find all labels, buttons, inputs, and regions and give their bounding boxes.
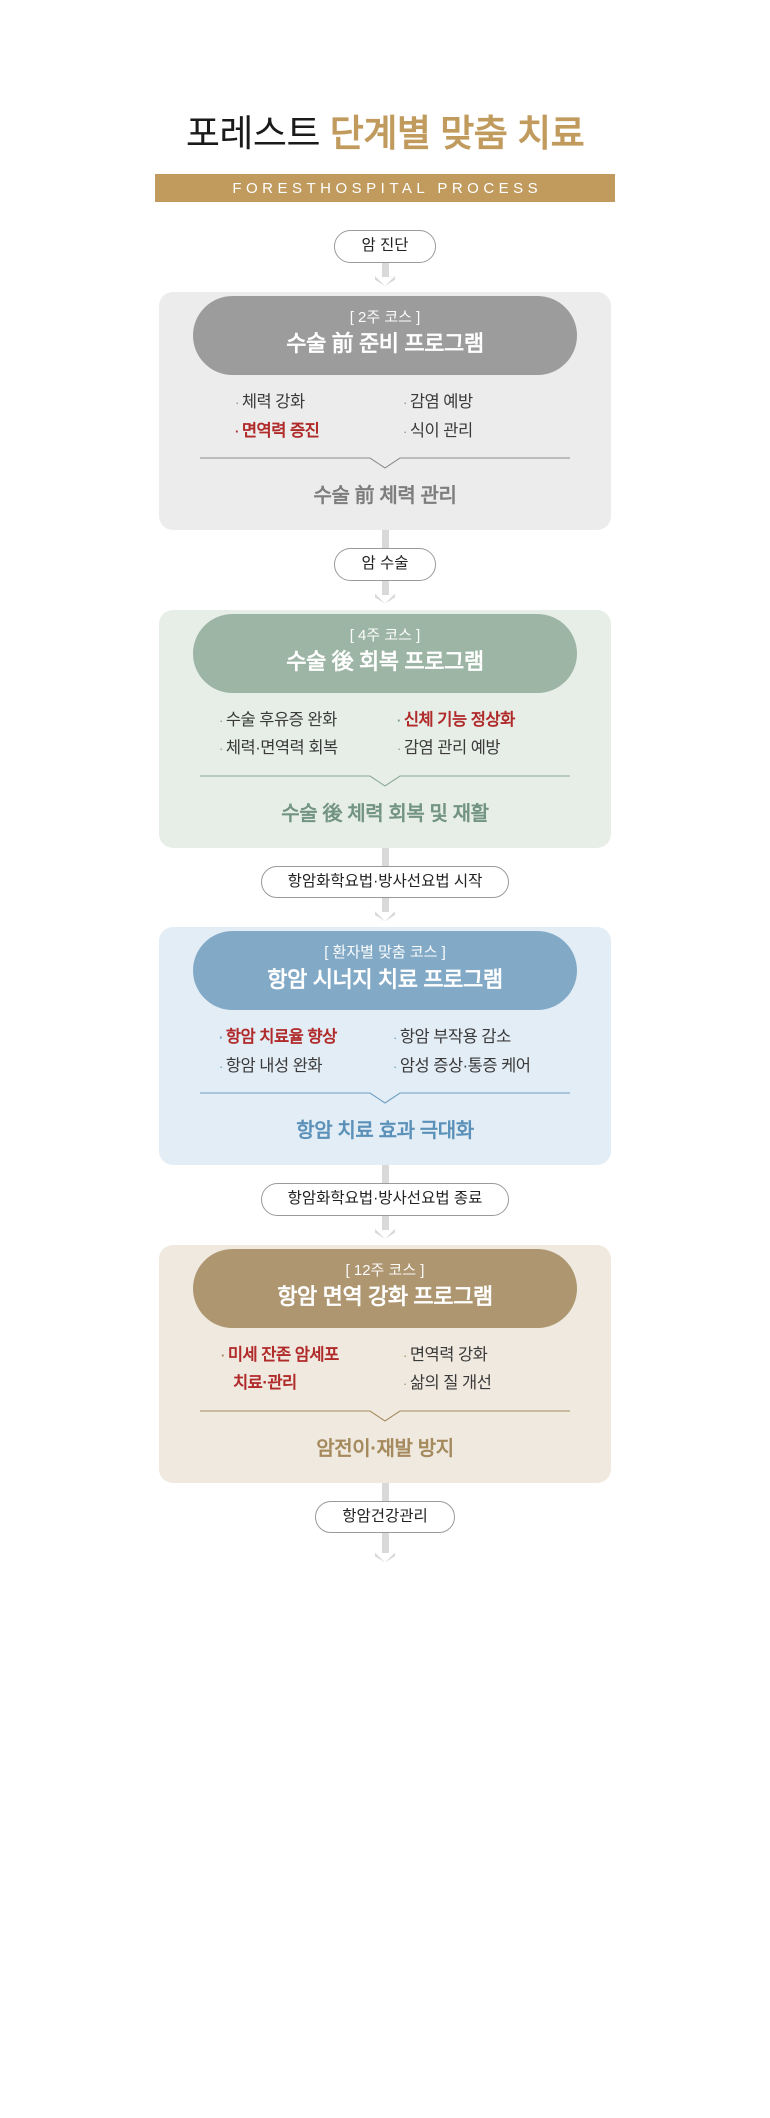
connector-chemo-radiation-end: 항암화학요법·방사선요법 종료 (0, 1165, 770, 1239)
list-item: ·항암 내성 완화 (219, 1055, 322, 1078)
list-item: ·수술 후유증 완화 (219, 709, 337, 732)
bullet-dot-icon: · (393, 1059, 397, 1074)
title-plain: 포레스트 (186, 113, 320, 154)
connector-cancer-health-management: 항암건강관리 (0, 1483, 770, 1563)
program-name: 항암 시너지 치료 프로그램 (193, 965, 577, 995)
stage-immune-strengthening: [ 12주 코스 ] 항암 면역 강화 프로그램 ·미세 잔존 암세포 치료·관… (159, 1245, 611, 1483)
arrow-down-icon (375, 1216, 395, 1239)
connector-label[interactable]: 항암건강관리 (315, 1501, 455, 1534)
connector-cancer-surgery: 암 수술 (0, 530, 770, 604)
stage-header: [ 2주 코스 ] 수술 前 준비 프로그램 (193, 296, 577, 375)
connector-label[interactable]: 암 수술 (334, 548, 435, 581)
bullet-column-right: ·면역력 강화 ·삶의 질 개선 (393, 1344, 557, 1396)
course-tag: [ 2주 코스 ] (193, 307, 577, 330)
bullet-dot-icon: · (397, 741, 401, 756)
stage-bullets: ·항암 치료율 향상 ·항암 내성 완화 ·항암 부작용 감소 ·암성 증상·통… (159, 1010, 611, 1078)
list-item: ·체력·면역력 회복 (219, 737, 338, 760)
arrow-down-icon (375, 1533, 395, 1562)
list-item: ·삶의 질 개선 (403, 1372, 491, 1395)
connector-chemo-radiation-start: 항암화학요법·방사선요법 시작 (0, 848, 770, 922)
list-item: ·암성 증상·통증 케어 (393, 1055, 530, 1078)
stage-bullets: ·수술 후유증 완화 ·체력·면역력 회복 ·신체 기능 정상화 ·감염 관리 … (159, 693, 611, 761)
connector-label[interactable]: 암 진단 (334, 230, 435, 263)
page-title: 포레스트 단계별 맞춤 치료 (186, 112, 584, 156)
stage-footer: 수술 前 체력 관리 (313, 470, 456, 530)
program-name: 수술 後 회복 프로그램 (193, 647, 577, 677)
bullet-dot-icon: · (219, 741, 223, 756)
bullet-dot-icon: · (235, 424, 239, 439)
bullet-dot-icon: · (403, 424, 407, 439)
arrow-down-icon (375, 581, 395, 604)
bullet-dot-icon: · (403, 1348, 407, 1363)
title-accent: 단계별 맞춤 치료 (330, 113, 584, 154)
divider (200, 1091, 570, 1105)
list-item: 치료·관리 (221, 1372, 297, 1395)
bullet-column-right: ·신체 기능 정상화 ·감염 관리 예방 (393, 709, 557, 761)
connector-cancer-diagnosis: 암 진단 (0, 230, 770, 286)
course-tag: [ 환자별 맞춤 코스 ] (193, 942, 577, 965)
bullet-dot-icon: · (393, 1030, 397, 1045)
stage-bullets: ·미세 잔존 암세포 치료·관리 ·면역력 강화 ·삶의 질 개선 (159, 1328, 611, 1396)
list-item: ·감염 예방 (403, 391, 473, 414)
stage-post-surgery-recovery: [ 4주 코스 ] 수술 後 회복 프로그램 ·수술 후유증 완화 ·체력·면역… (159, 610, 611, 848)
course-tag: [ 4주 코스 ] (193, 625, 577, 648)
stage-footer: 수술 後 체력 회복 및 재활 (281, 788, 488, 848)
stage-header: [ 12주 코스 ] 항암 면역 강화 프로그램 (193, 1249, 577, 1328)
bullet-dot-icon: · (235, 395, 239, 410)
list-item: ·신체 기능 정상화 (397, 709, 515, 732)
list-item: ·면역력 증진 (235, 420, 319, 443)
program-name: 항암 면역 강화 프로그램 (193, 1282, 577, 1312)
list-item: ·감염 관리 예방 (397, 737, 500, 760)
list-item: ·항암 치료율 향상 (219, 1026, 337, 1049)
stage-anticancer-synergy: [ 환자별 맞춤 코스 ] 항암 시너지 치료 프로그램 ·항암 치료율 향상 … (159, 927, 611, 1165)
list-item: ·항암 부작용 감소 (393, 1026, 511, 1049)
process-flowchart: 포레스트 단계별 맞춤 치료 FORESTHOSPITAL PROCESS 암 … (0, 0, 770, 2118)
bullet-dot-icon: · (397, 713, 401, 728)
arrow-down-icon (375, 263, 395, 286)
divider (200, 774, 570, 788)
bullet-dot-icon: · (221, 1348, 225, 1363)
bullet-column-left: ·수술 후유증 완화 ·체력·면역력 회복 (213, 709, 377, 761)
stage-footer: 항암 치료 효과 극대화 (296, 1105, 473, 1165)
bullet-column-left: ·항암 치료율 향상 ·항암 내성 완화 (213, 1026, 377, 1078)
list-item: ·면역력 강화 (403, 1344, 487, 1367)
list-item: ·체력 강화 (235, 391, 305, 414)
arrow-down-icon (375, 898, 395, 921)
bullet-dot-icon: · (403, 1376, 407, 1391)
divider (200, 1409, 570, 1423)
bullet-dot-icon: · (403, 395, 407, 410)
bullet-dot-icon: · (219, 1059, 223, 1074)
connector-label[interactable]: 항암화학요법·방사선요법 종료 (261, 1183, 510, 1216)
stage-footer: 암전이·재발 방지 (316, 1423, 453, 1483)
bullet-column-right: ·항암 부작용 감소 ·암성 증상·통증 케어 (393, 1026, 557, 1078)
bullet-column-left: ·미세 잔존 암세포 치료·관리 (213, 1344, 377, 1396)
divider (200, 456, 570, 470)
connector-label[interactable]: 항암화학요법·방사선요법 시작 (261, 866, 510, 899)
banner-subtitle: FORESTHOSPITAL PROCESS (155, 174, 615, 202)
bullet-dot-icon: · (219, 1030, 223, 1045)
stage-bullets: ·체력 강화 ·면역력 증진 ·감염 예방 ·식이 관리 (159, 375, 611, 443)
bullet-dot-icon: · (219, 713, 223, 728)
program-name: 수술 前 준비 프로그램 (193, 329, 577, 359)
stage-header: [ 4주 코스 ] 수술 後 회복 프로그램 (193, 614, 577, 693)
list-item: ·미세 잔존 암세포 (221, 1344, 339, 1367)
stage-pre-surgery: [ 2주 코스 ] 수술 前 준비 프로그램 ·체력 강화 ·면역력 증진 ·감… (159, 292, 611, 530)
bullet-column-left: ·체력 강화 ·면역력 증진 (213, 391, 377, 443)
list-item: ·식이 관리 (403, 420, 473, 443)
stage-header: [ 환자별 맞춤 코스 ] 항암 시너지 치료 프로그램 (193, 931, 577, 1010)
bullet-column-right: ·감염 예방 ·식이 관리 (393, 391, 557, 443)
course-tag: [ 12주 코스 ] (193, 1260, 577, 1283)
